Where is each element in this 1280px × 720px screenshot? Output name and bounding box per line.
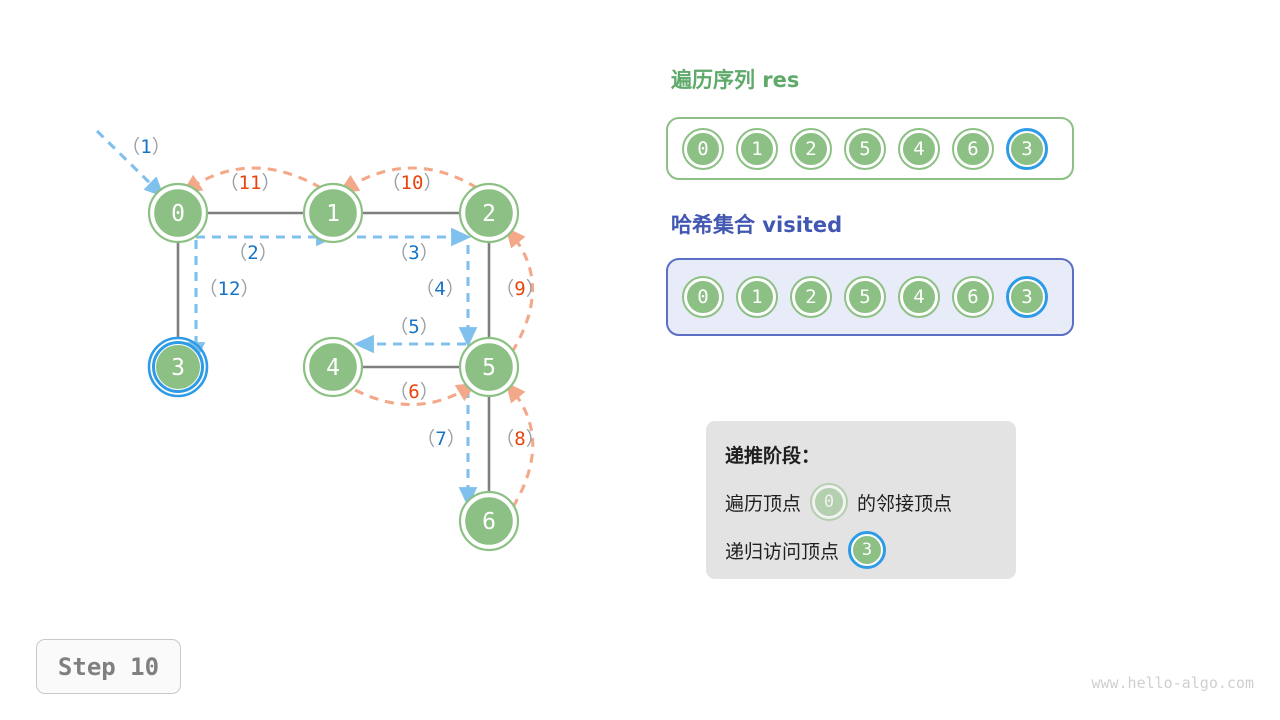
res-sequence-box: 0 1 2 5 4 6 3: [666, 117, 1074, 180]
step-label-8: （8）: [495, 428, 544, 450]
visited-chip-label: 3: [1009, 279, 1045, 315]
step-label-7: （7）: [416, 428, 465, 450]
diagram-canvas: （1） （11） （10） （2） （3） （12） （4） （9）: [0, 0, 1280, 720]
step-label-4: （4）: [415, 278, 464, 300]
phase-line-2-prefix: 递归访问顶点: [725, 537, 839, 564]
phase-line-1-node: 0: [810, 483, 848, 521]
graph-node-2[interactable]: 2: [460, 184, 518, 242]
graph-node-3[interactable]: 3: [149, 338, 207, 396]
res-chip-label: 6: [955, 131, 991, 167]
visited-panel-title: 哈希集合 visited: [671, 209, 842, 239]
res-chip-4[interactable]: 4: [898, 128, 940, 170]
res-chip-3[interactable]: 5: [844, 128, 886, 170]
res-chip-2[interactable]: 2: [790, 128, 832, 170]
phase-line-2: 递归访问顶点 3: [725, 531, 1016, 569]
step-badge: Step 10: [36, 639, 181, 694]
graph-node-5-label: 5: [482, 355, 496, 381]
step-label-12: （12）: [199, 278, 260, 300]
graph-node-4-label: 4: [326, 355, 340, 381]
step-label-2: （2）: [228, 242, 277, 264]
graph-node-1[interactable]: 1: [304, 184, 362, 242]
visited-chip-label: 5: [847, 279, 883, 315]
graph-node-2-label: 2: [482, 201, 496, 227]
phase-line-1: 遍历顶点 0 的邻接顶点: [725, 483, 1016, 521]
visited-chip-5[interactable]: 6: [952, 276, 994, 318]
phase-line-2-node: 3: [848, 531, 886, 569]
graph-node-0-label: 0: [171, 201, 185, 227]
res-chip-label: 5: [847, 131, 883, 167]
visited-chip-3[interactable]: 5: [844, 276, 886, 318]
graph-node-6-label: 6: [482, 509, 496, 535]
graph-node-5[interactable]: 5: [460, 338, 518, 396]
res-chip-label: 4: [901, 131, 937, 167]
phase-line-1-prefix: 遍历顶点: [725, 489, 801, 516]
res-chip-label: 0: [685, 131, 721, 167]
visited-set-box: 0 1 2 5 4 6 3: [666, 258, 1074, 336]
step-label-9: （9）: [495, 278, 544, 300]
site-watermark: www.hello-algo.com: [1091, 674, 1254, 692]
res-chip-0[interactable]: 0: [682, 128, 724, 170]
step-label-11: （11）: [220, 172, 281, 194]
res-panel-title: 遍历序列 res: [671, 64, 799, 94]
graph-node-0[interactable]: 0: [149, 184, 207, 242]
step-label-5: （5）: [389, 316, 438, 338]
res-chip-1[interactable]: 1: [736, 128, 778, 170]
res-chip-label: 2: [793, 131, 829, 167]
visited-chip-label: 4: [901, 279, 937, 315]
visited-chip-1[interactable]: 1: [736, 276, 778, 318]
visited-chip-6[interactable]: 3: [1006, 276, 1048, 318]
visited-chip-label: 0: [685, 279, 721, 315]
res-chip-6[interactable]: 3: [1006, 128, 1048, 170]
phase-node-label: 0: [813, 486, 845, 518]
res-chip-label: 1: [739, 131, 775, 167]
phase-heading: 递推阶段：: [725, 441, 1016, 468]
res-chip-label: 3: [1009, 131, 1045, 167]
step-label-3: （3）: [389, 242, 438, 264]
phase-info-card: 递推阶段： 遍历顶点 0 的邻接顶点 递归访问顶点 3: [706, 421, 1016, 579]
visited-chip-2[interactable]: 2: [790, 276, 832, 318]
graph-node-6[interactable]: 6: [460, 492, 518, 550]
res-chip-5[interactable]: 6: [952, 128, 994, 170]
visited-chip-label: 6: [955, 279, 991, 315]
visited-chip-label: 1: [739, 279, 775, 315]
step-label-6: （6）: [389, 381, 438, 403]
phase-node-label: 3: [851, 534, 883, 566]
graph-node-1-label: 1: [326, 201, 340, 227]
step-label-10: （10）: [382, 172, 443, 194]
visited-chip-4[interactable]: 4: [898, 276, 940, 318]
phase-line-1-suffix: 的邻接顶点: [857, 489, 952, 516]
graph-node-4[interactable]: 4: [304, 338, 362, 396]
visited-chip-label: 2: [793, 279, 829, 315]
visited-chip-0[interactable]: 0: [682, 276, 724, 318]
step-label-1: （1）: [121, 136, 170, 158]
graph-figure: （1） （11） （10） （2） （3） （12） （4） （9）: [0, 0, 640, 640]
graph-node-3-label: 3: [171, 355, 185, 381]
graph-vertices: 0 1 2 3 4: [149, 184, 518, 550]
